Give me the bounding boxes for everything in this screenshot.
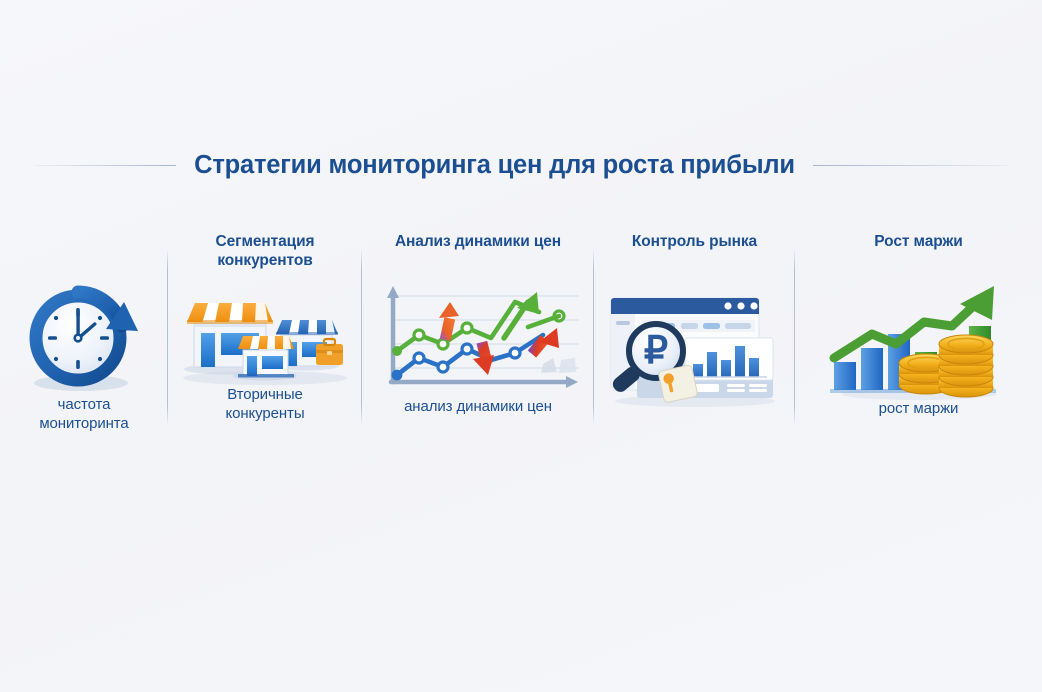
panel-strip: частота мониторинта Сегментация конкурен… (0, 226, 1042, 446)
caption-line-2: мониторинта (39, 415, 128, 434)
panel-competitors-caption: Вторичные конкуренты (225, 386, 304, 424)
caption-line-1: частота (39, 396, 128, 415)
heading-line-2: конкурентов (216, 251, 315, 270)
panel-dynamics-caption: анализ динамики цен (404, 398, 552, 417)
growth-bars-coins-icon (826, 282, 1012, 400)
panel-margin-heading: Рост маржи (874, 232, 962, 276)
panel-dynamics-heading: Анализ динамики цен (395, 232, 561, 276)
panel-margin-growth: Рост маржи (795, 226, 1042, 446)
svg-text:₽: ₽ (643, 330, 667, 372)
line-chart-icon (373, 280, 583, 398)
page-title: Стратегии мониторинга цен для роста приб… (194, 151, 795, 180)
caption-line-1: Вторичные (225, 386, 304, 405)
panel-competitor-segmentation: Сегментация конкурентов (168, 226, 362, 446)
storefronts-icon (175, 278, 355, 386)
panel-price-dynamics: Анализ динамики цен (362, 226, 594, 446)
caption-line-2: конкуренты (225, 405, 304, 424)
infographic-canvas: Стратегии мониторинга цен для роста приб… (0, 0, 1042, 692)
annotation-arrow-down (473, 341, 494, 375)
caption-line-1: анализ динамики цен (404, 398, 552, 417)
coin-stack-back (939, 335, 993, 397)
heading-line-1: Контроль рынка (632, 232, 757, 251)
clock-refresh-icon (23, 284, 145, 396)
panel-market-heading: Контроль рынка (632, 232, 757, 276)
title-rule-left (34, 165, 176, 166)
panel-frequency-caption: частота мониторинта (39, 396, 128, 434)
heading-line-1: Анализ динамики цен (395, 232, 561, 251)
panel-market-control: Контроль рынка (594, 226, 795, 446)
panel-competitors-heading: Сегментация конкурентов (216, 232, 315, 276)
title-rule-right (813, 165, 1008, 166)
title-row: Стратегии мониторинга цен для роста приб… (0, 142, 1042, 188)
heading-line-1: Сегментация (216, 232, 315, 251)
heading-line-1: Рост маржи (874, 232, 962, 251)
browser-magnifier-ruble-icon: ₽ (597, 288, 793, 408)
panel-frequency: частота мониторинта (0, 226, 168, 446)
